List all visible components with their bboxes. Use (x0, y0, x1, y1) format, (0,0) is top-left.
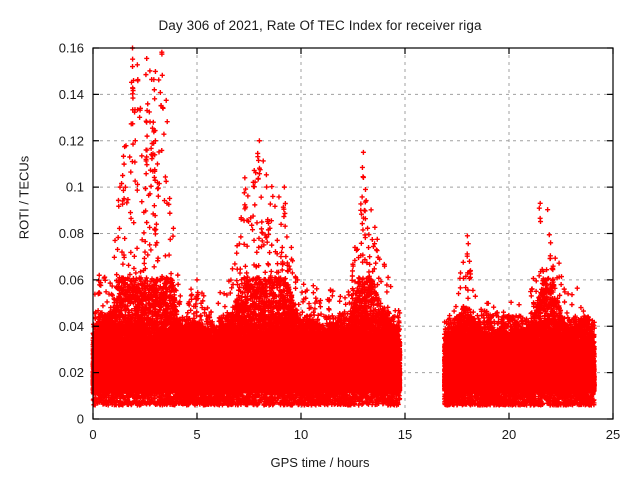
svg-text:15: 15 (398, 427, 412, 442)
svg-text:0: 0 (77, 412, 84, 427)
svg-text:25: 25 (606, 427, 620, 442)
svg-text:10: 10 (294, 427, 308, 442)
svg-text:5: 5 (193, 427, 200, 442)
svg-text:0.06: 0.06 (59, 272, 84, 287)
svg-text:0.02: 0.02 (59, 365, 84, 380)
chart-container: Day 306 of 2021, Rate Of TEC Index for r… (0, 0, 640, 480)
plot-canvas: 051015202500.020.040.060.080.10.120.140.… (0, 0, 640, 480)
data-points (91, 46, 597, 408)
svg-text:0.12: 0.12 (59, 133, 84, 148)
svg-text:0: 0 (89, 427, 96, 442)
svg-text:20: 20 (502, 427, 516, 442)
svg-text:0.08: 0.08 (59, 226, 84, 241)
scatter-plot-svg: 051015202500.020.040.060.080.10.120.140.… (0, 0, 640, 480)
svg-text:0.14: 0.14 (59, 87, 84, 102)
svg-text:0.04: 0.04 (59, 319, 84, 334)
svg-text:0.1: 0.1 (66, 180, 84, 195)
svg-text:0.16: 0.16 (59, 41, 84, 56)
